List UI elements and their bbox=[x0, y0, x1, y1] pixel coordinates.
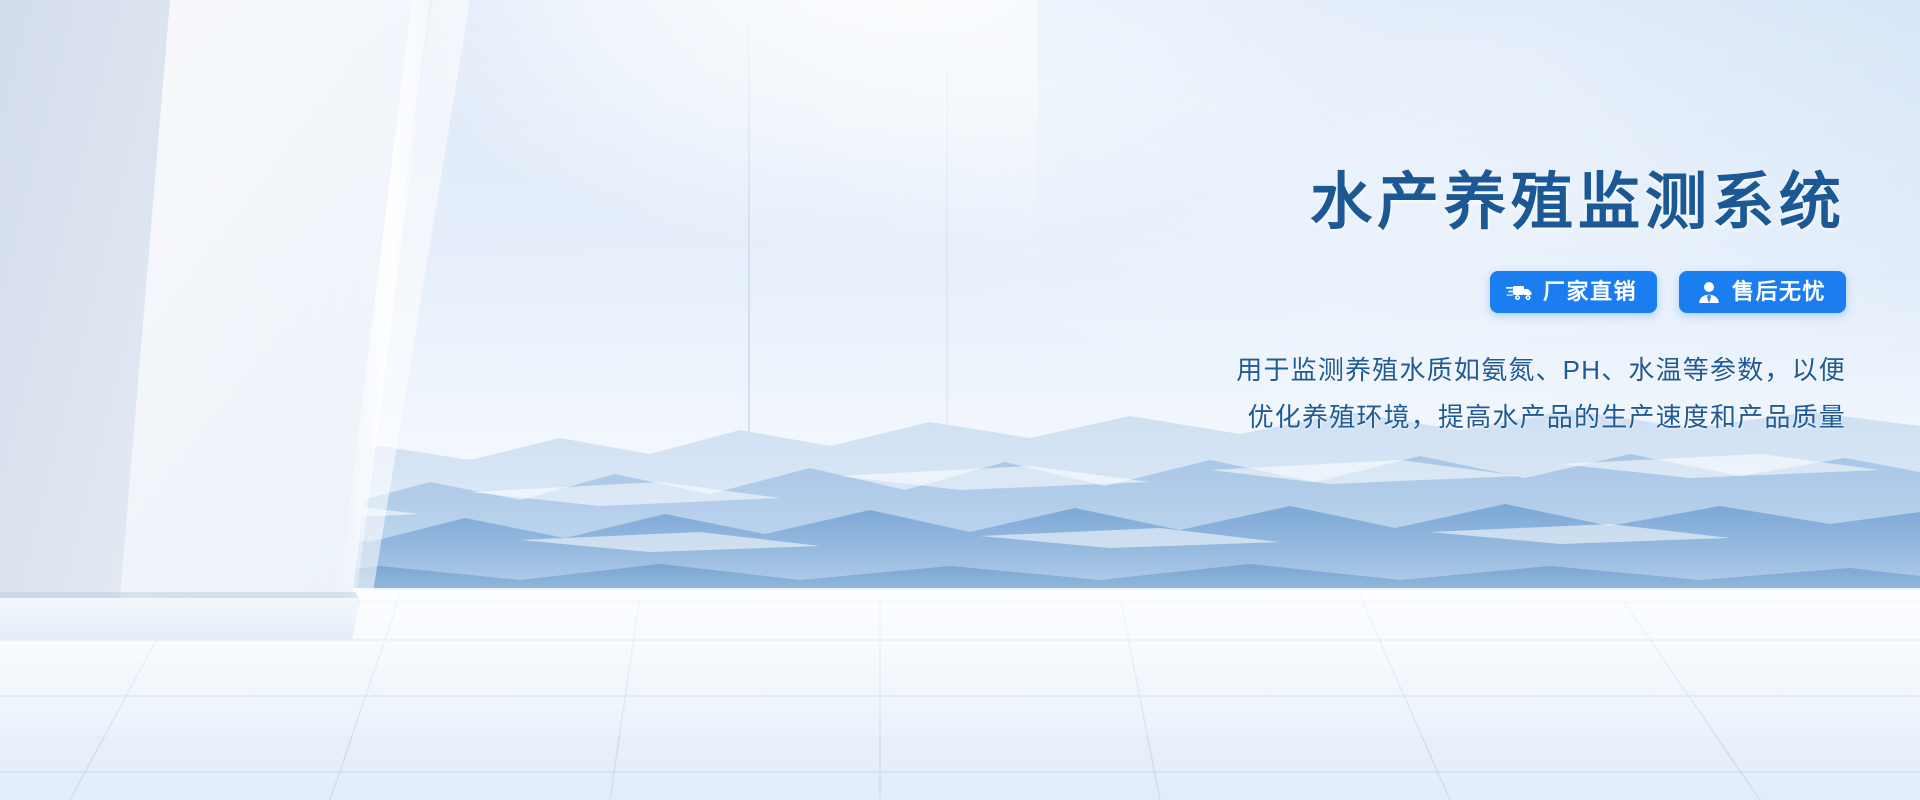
badge-factory-direct[interactable]: 厂家直销 bbox=[1490, 271, 1657, 313]
delivery-truck-icon bbox=[1506, 279, 1534, 305]
badge-label: 厂家直销 bbox=[1543, 281, 1637, 303]
customer-service-person-icon bbox=[1695, 279, 1723, 305]
page-title: 水产养殖监测系统 bbox=[1026, 168, 1846, 237]
description-line-2: 优化养殖环境，提高水产品的生产速度和产品质量 bbox=[1026, 394, 1846, 441]
product-hero-banner: 水产养殖监测系统 厂家直销 bbox=[0, 0, 1920, 800]
badge-label: 售后无忧 bbox=[1732, 281, 1826, 303]
description-line-1: 用于监测养殖水质如氨氮、PH、水温等参数，以便 bbox=[1026, 347, 1846, 394]
hero-content: 水产养殖监测系统 厂家直销 bbox=[1026, 168, 1846, 441]
badge-after-sales[interactable]: 售后无忧 bbox=[1679, 271, 1846, 313]
feature-badge-group: 厂家直销 售后无忧 bbox=[1026, 271, 1846, 313]
product-description: 用于监测养殖水质如氨氮、PH、水温等参数，以便 优化养殖环境，提高水产品的生产速… bbox=[1026, 347, 1846, 441]
